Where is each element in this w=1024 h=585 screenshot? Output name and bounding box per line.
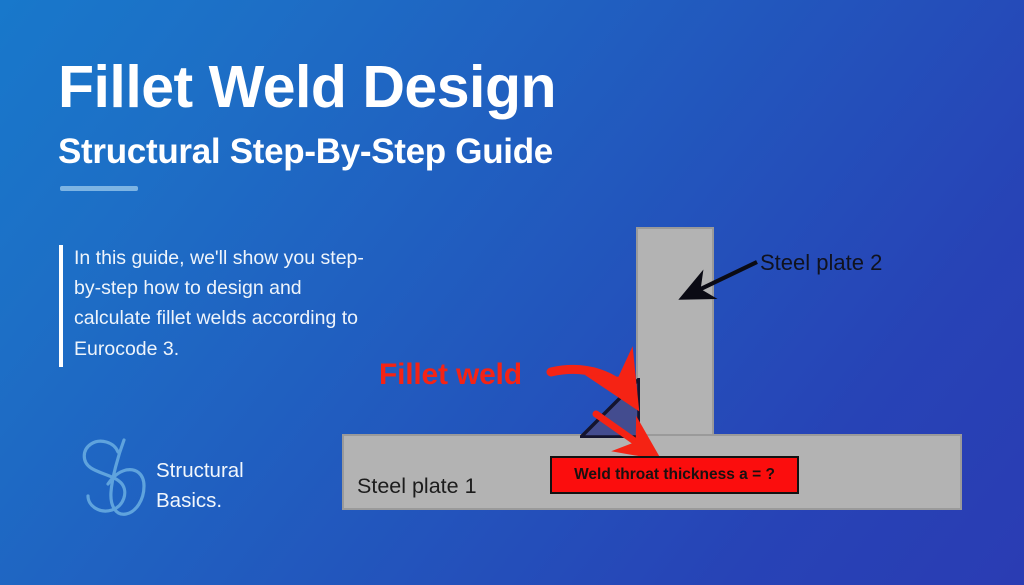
poster-canvas: Fillet Weld Design Structural Step-By-St…: [0, 0, 1024, 585]
brand-line-2: Basics.: [156, 486, 244, 516]
weld-throat-label: Weld throat thickness a = ?: [574, 466, 775, 484]
brand-line-1: Structural: [156, 456, 244, 486]
steel-plate-1-label: Steel plate 1: [357, 474, 477, 499]
intro-block: In this guide, we'll show you step-by-st…: [59, 243, 369, 364]
steel-plate-2-shape: [636, 227, 714, 436]
sb-monogram-icon: [78, 434, 160, 520]
brand-logo: Structural Basics.: [78, 434, 308, 524]
weld-throat-callout-box: Weld throat thickness a = ?: [550, 456, 799, 494]
intro-paragraph: In this guide, we'll show you step-by-st…: [74, 243, 369, 364]
page-title: Fillet Weld Design: [58, 57, 678, 118]
brand-wordmark: Structural Basics.: [156, 456, 244, 515]
page-subtitle: Structural Step-By-Step Guide: [58, 133, 758, 172]
steel-plate-2-label: Steel plate 2: [760, 250, 882, 276]
title-divider: [60, 186, 138, 191]
fillet-weld-label: Fillet weld: [379, 358, 522, 392]
intro-quote-bar: [59, 245, 63, 367]
fillet-weld-triangle: [580, 378, 640, 438]
